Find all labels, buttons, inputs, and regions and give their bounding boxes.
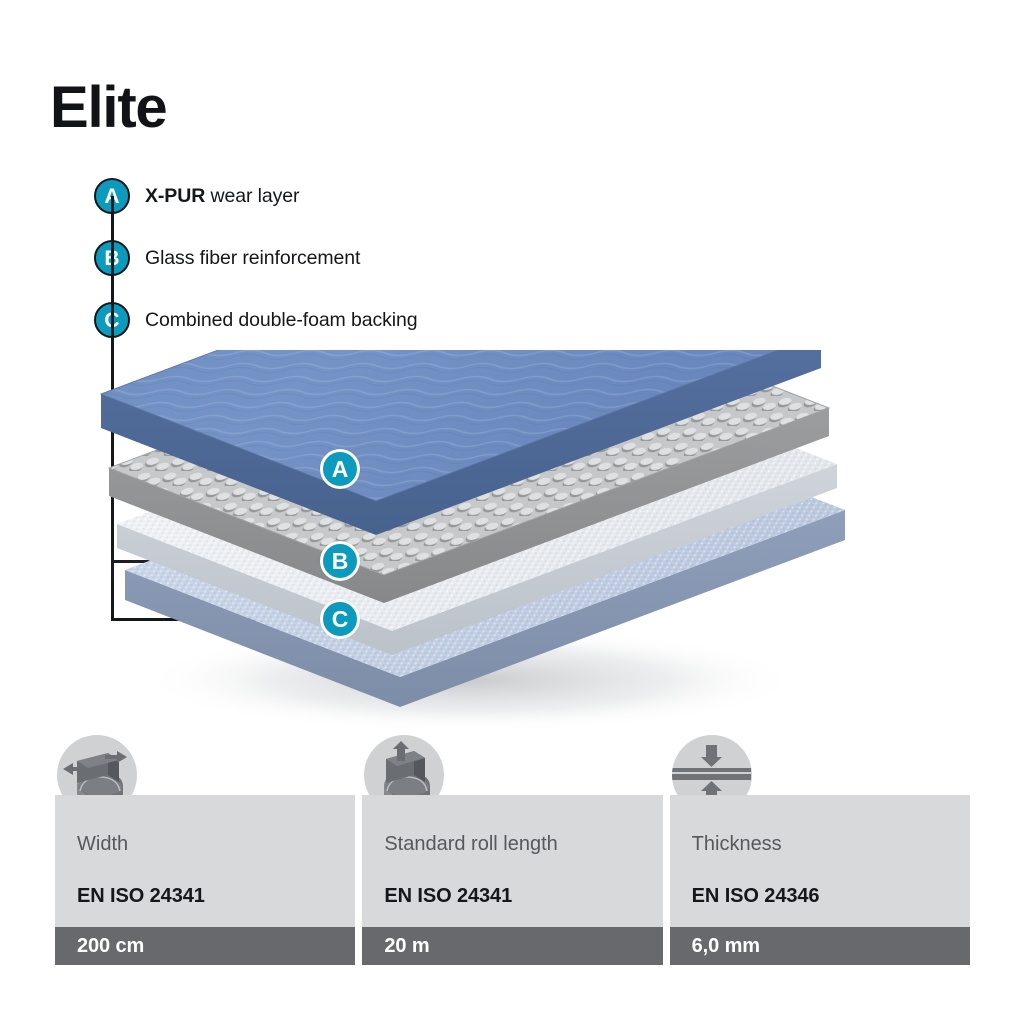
spec-value-width: 200 cm <box>77 935 144 958</box>
spec-value-thickness: 6,0 mm <box>692 935 760 958</box>
callout-badge-c[interactable]: C <box>320 599 360 639</box>
legend-label-a: X-PUR wear layer <box>145 185 299 208</box>
callout-badge-b[interactable]: B <box>320 541 360 581</box>
legend-label-b: Glass fiber reinforcement <box>145 247 360 270</box>
legend-label-a-rest: wear layer <box>205 185 299 207</box>
layer-stack-svg <box>0 350 1024 740</box>
specifications-table: Width EN ISO 24341 200 cm <box>55 795 970 965</box>
spec-foot-thickness: 6,0 mm <box>670 927 970 965</box>
spec-standard-roll-length: EN ISO 24341 <box>384 885 512 908</box>
spec-body-thickness: Thickness EN ISO 24346 <box>670 795 970 927</box>
layer-legend: A X-PUR wear layer B Glass fiber reinfor… <box>0 0 1024 360</box>
spec-column-thickness: Thickness EN ISO 24346 6,0 mm <box>670 795 970 965</box>
layer-illustration: A B C <box>0 350 1024 740</box>
legend-label-a-bold: X-PUR <box>145 185 205 207</box>
spec-foot-width: 200 cm <box>55 927 355 965</box>
spec-standard-width: EN ISO 24341 <box>77 885 205 908</box>
spec-foot-roll-length: 20 m <box>362 927 662 965</box>
callout-badge-a[interactable]: A <box>320 449 360 489</box>
spec-column-width: Width EN ISO 24341 200 cm <box>55 795 355 965</box>
spec-value-roll-length: 20 m <box>384 935 429 958</box>
spec-label-thickness: Thickness <box>692 833 782 856</box>
spec-label-width: Width <box>77 833 128 856</box>
spec-body-width: Width EN ISO 24341 <box>55 795 355 927</box>
legend-label-c: Combined double-foam backing <box>145 309 418 332</box>
product-datasheet-page: Elite A X-PUR wear layer B Glass fiber r… <box>0 0 1024 1024</box>
spec-standard-thickness: EN ISO 24346 <box>692 885 820 908</box>
spec-label-roll-length: Standard roll length <box>384 833 557 856</box>
spec-body-roll-length: Standard roll length EN ISO 24341 <box>362 795 662 927</box>
spec-column-roll-length: Standard roll length EN ISO 24341 20 m <box>362 795 662 965</box>
